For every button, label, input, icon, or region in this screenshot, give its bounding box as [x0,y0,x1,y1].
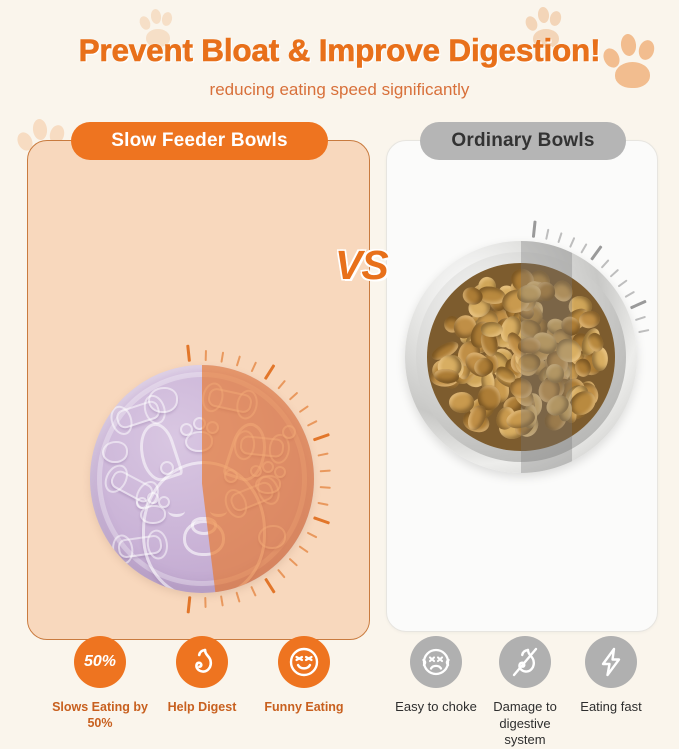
stomach-crossed-out-icon [499,636,551,688]
slow-feeder-panel: Slow Feeder Bowls [27,140,370,640]
benefit-item: Funny Eating [256,636,352,731]
benefit-label: Funny Eating [264,699,343,715]
percent-50-text: 50% [84,653,116,671]
vs-divider: VS [335,242,388,289]
drawback-item: Eating fast [573,636,649,749]
kibble-pile [427,263,615,451]
benefit-label: Slows Eating by 50% [52,699,148,731]
slow-feeder-bowl-image [90,353,314,605]
page-subtitle: reducing eating speed significantly [0,80,679,100]
drawback-label: Eating fast [580,699,641,716]
benefit-label: Help Digest [168,699,237,715]
percent-50-icon: 50% [74,636,126,688]
ordinary-bowl-panel: Ordinary Bowls [386,140,658,632]
slow-feeder-badge: Slow Feeder Bowls [71,122,328,160]
ordinary-bowl-image [405,241,637,473]
happy-face-icon [278,636,330,688]
drawback-item: Damage to digestive system [479,636,571,749]
benefit-item: Help Digest [154,636,250,731]
benefit-item: 50% Slows Eating by 50% [52,636,148,731]
drawback-label: Damage to digestive system [479,699,571,749]
slow-feeder-benefits: 50% Slows Eating by 50% Help Digest [52,636,352,731]
choking-face-icon [410,636,462,688]
stomach-icon [176,636,228,688]
page-title: Prevent Bloat & Improve Digestion! [0,32,679,69]
feeder-bowl-surface [90,365,314,593]
lightning-bolt-icon [585,636,637,688]
steel-bowl [405,241,637,473]
ordinary-bowl-drawbacks: Easy to choke Damage to digestive system [395,636,649,749]
drawback-label: Easy to choke [395,699,477,716]
ordinary-bowl-badge: Ordinary Bowls [420,122,626,160]
drawback-item: Easy to choke [395,636,477,749]
infographic-canvas: Prevent Bloat & Improve Digestion! reduc… [0,0,679,679]
